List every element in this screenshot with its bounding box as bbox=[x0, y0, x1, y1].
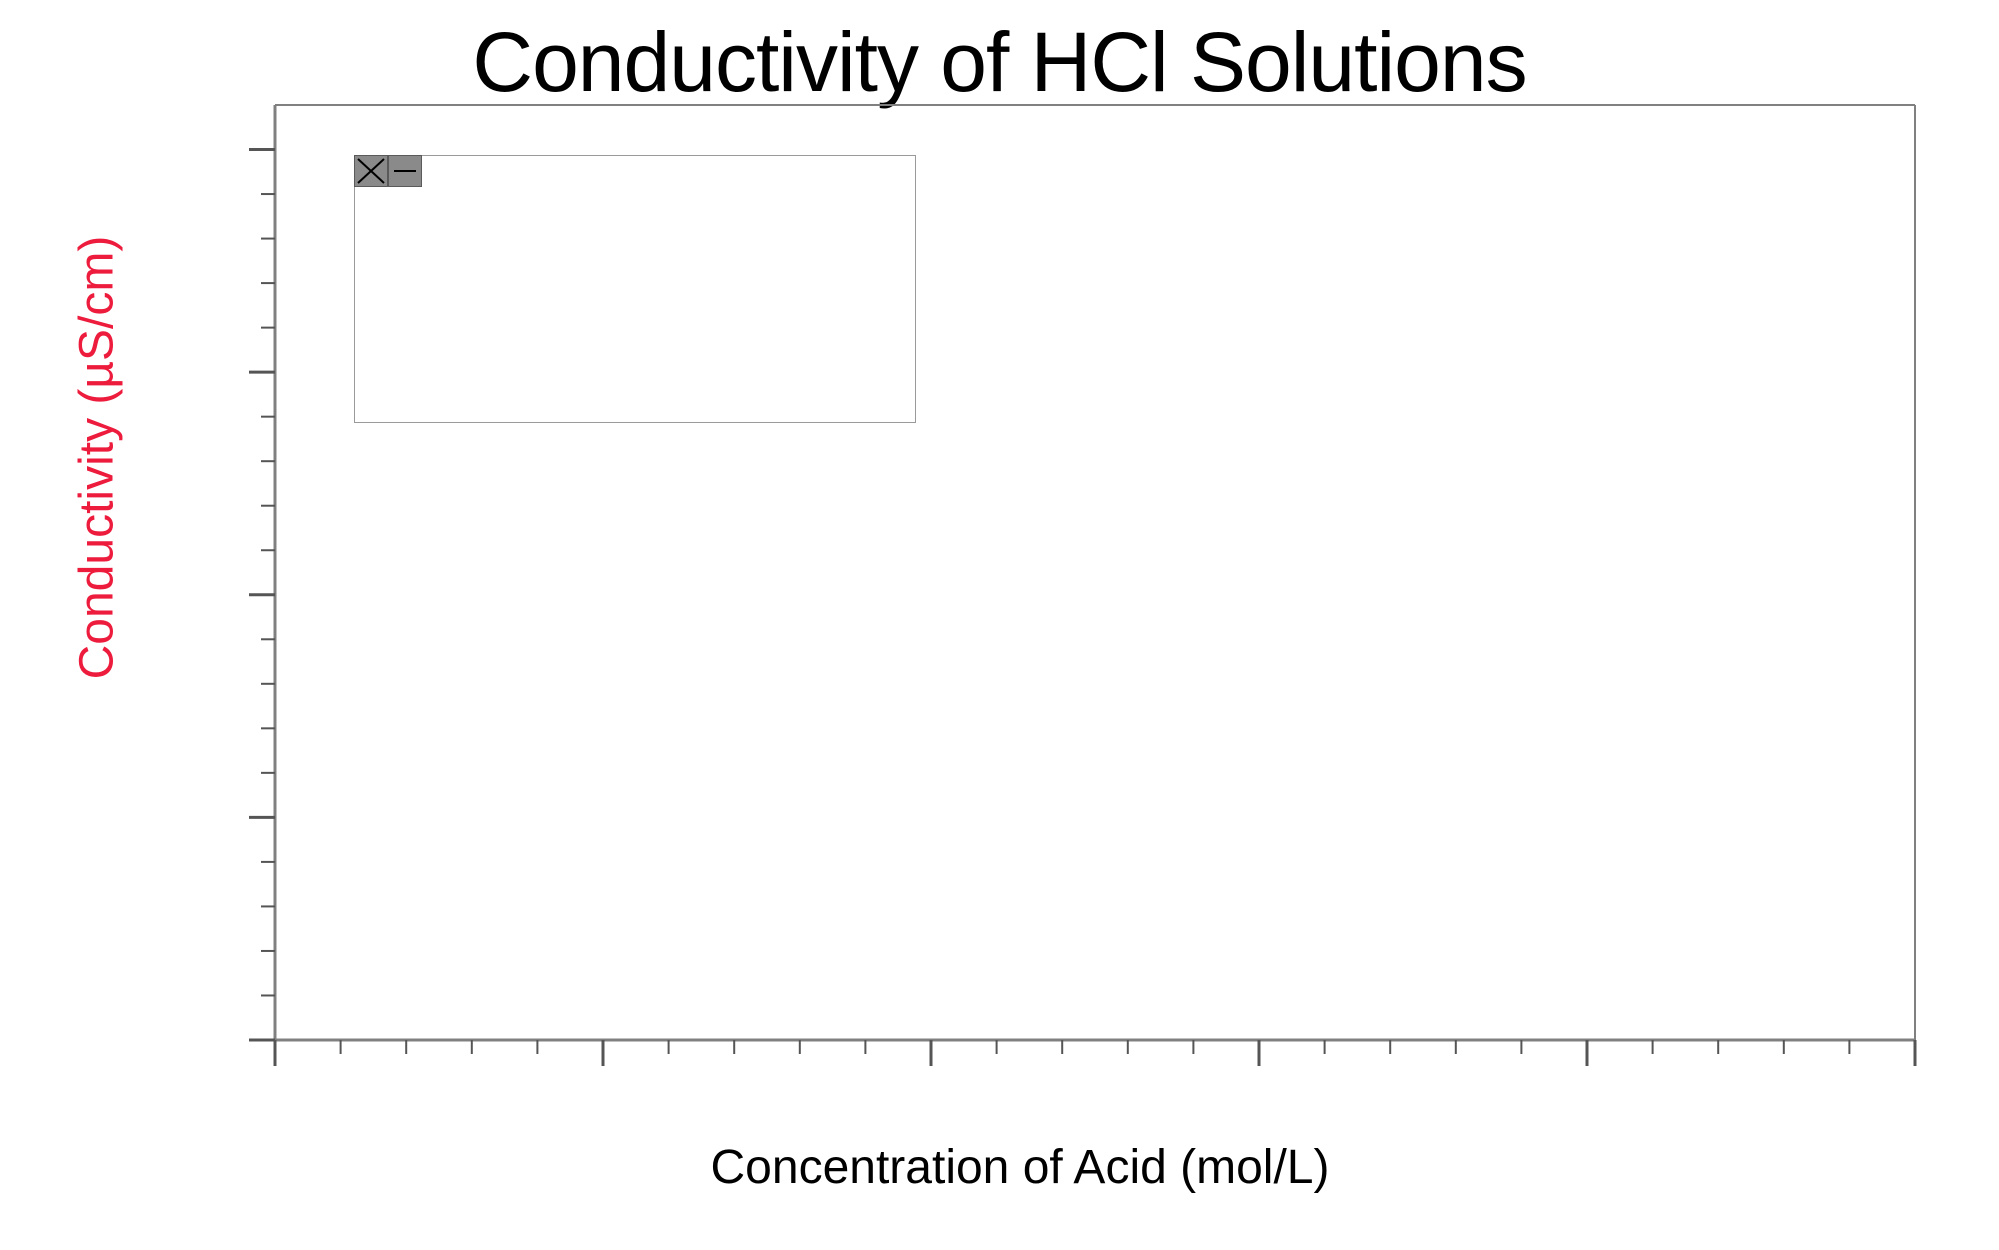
annotation-titlebar bbox=[354, 155, 422, 187]
minimize-icon[interactable] bbox=[388, 155, 422, 187]
x-axis-label: Concentration of Acid (mol/L) bbox=[170, 1140, 1870, 1195]
close-icon[interactable] bbox=[354, 155, 388, 187]
linear-fit-annotation[interactable] bbox=[354, 155, 916, 423]
y-axis-label: Conductivity (µS/cm) bbox=[70, 178, 125, 738]
chart-page: Conductivity of HCl Solutions Conductivi… bbox=[0, 0, 1999, 1250]
page-title: Conductivity of HCl Solutions bbox=[0, 14, 1999, 111]
